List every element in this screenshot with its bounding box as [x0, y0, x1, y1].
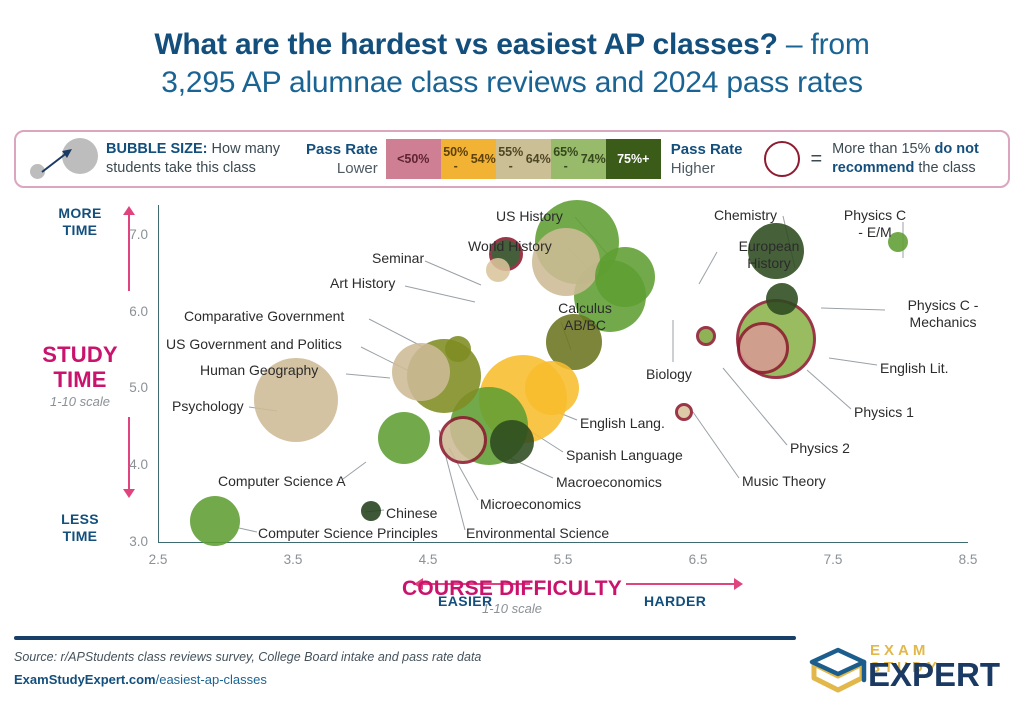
norec-bold-2: recommend [832, 160, 914, 176]
bubble-label-chemistry: Chemistry [714, 207, 777, 224]
norec-prefix: More than 15% [832, 141, 934, 157]
pass-rate-swatches: <50%50% -54%55% -64%65% -74%75%+ [386, 139, 661, 179]
bubble-label-chinese: Chinese [386, 505, 437, 522]
bubble-label-seminar: Seminar [372, 250, 424, 267]
x-tick-6.5: 6.5 [678, 552, 718, 567]
bubble-label-european-history: EuropeanHistory [714, 238, 824, 272]
bubble-label-computer-science-principles: Computer Science Principles [258, 525, 438, 542]
do-not-recommend-ring-icon [764, 141, 800, 177]
equals-sign: = [810, 148, 822, 171]
bubble-label-macroeconomics: Macroeconomics [556, 474, 662, 491]
footer-link[interactable]: ExamStudyExpert.com/easiest-ap-classes [14, 672, 267, 687]
bubble-label-physics-c-e-m: Physics C- E/M [820, 207, 930, 241]
pass-rate-swatch-3: 65% -74% [551, 139, 606, 179]
title-line-1: What are the hardest vs easiest AP class… [40, 26, 984, 64]
bubble-size-legend-text: BUBBLE SIZE: How many students take this… [106, 140, 280, 178]
leader-line [723, 368, 787, 445]
harder-arrow-icon [626, 583, 734, 585]
bubble-label-computer-science-a: Computer Science A [218, 473, 346, 490]
x-axis-caption: EASIER COURSE DIFFICULTY 1-10 scale HARD… [0, 575, 1024, 623]
bubble-chinese[interactable] [361, 501, 381, 521]
bubble-label-human-geography: Human Geography [200, 362, 318, 379]
x-tick-3.5: 3.5 [273, 552, 313, 567]
bubble-label-world-history: World History [468, 238, 552, 255]
title-light: – from [778, 28, 870, 61]
pass-rate-swatch-2: 55% -64% [496, 139, 551, 179]
bubble-label-art-history: Art History [330, 275, 395, 292]
bubble-english-lang[interactable] [525, 361, 579, 415]
pass-rate-swatch-1: 50% -54% [441, 139, 496, 179]
pass-rate-lower-title: Pass Rate [306, 140, 378, 159]
logo: EXAM STUDY EXPERT [808, 640, 1008, 696]
leader-line [239, 528, 257, 532]
bubble-art-history[interactable] [486, 258, 510, 282]
bubble-label-physics-c-mechanics: Physics C -Mechanics [888, 297, 998, 331]
bubble-label-physics-2: Physics 2 [790, 440, 850, 457]
bubble-european-history[interactable] [595, 247, 655, 307]
pass-rate-lower-sub: Lower [306, 159, 378, 178]
leader-line [821, 308, 885, 310]
bubble-size-arrow-icon [28, 136, 100, 182]
footer-source: Source: r/APStudents class reviews surve… [14, 650, 481, 664]
y-axis-down-arrowhead-icon [123, 489, 135, 498]
x-tick-8.5: 8.5 [948, 552, 988, 567]
footer-divider [14, 636, 796, 640]
y-tick-4.0: 4.0 [114, 457, 148, 472]
pass-rate-higher-title: Pass Rate [671, 140, 743, 159]
y-tick-3.0: 3.0 [114, 534, 148, 549]
bubble-physics-1[interactable] [737, 322, 789, 374]
x-tick-5.5: 5.5 [543, 552, 583, 567]
y-tick-7.0: 7.0 [114, 227, 148, 242]
bubble-label-english-lang: English Lang. [580, 415, 665, 432]
bubble-label-comparative-government: Comparative Government [184, 308, 344, 325]
y-tick-5.0: 5.0 [114, 380, 148, 395]
bubble-physics-c-mechanics[interactable] [766, 283, 798, 315]
y-axis-scale: 1-10 scale [42, 394, 118, 409]
pass-rate-lower-legend: Pass Rate Lower [306, 140, 378, 178]
bubble-size-icon [28, 136, 100, 182]
bubble-computer-science-a[interactable] [378, 412, 430, 464]
pass-rate-higher-sub: Higher [671, 159, 743, 178]
bubble-label-physics-1: Physics 1 [854, 404, 914, 421]
title-line-2: 3,295 AP alumnae class reviews and 2024 … [40, 64, 984, 102]
page-title: What are the hardest vs easiest AP class… [0, 0, 1024, 108]
leader-line [807, 370, 851, 409]
leader-line [829, 358, 877, 365]
leader-line [425, 261, 481, 285]
bubble-label-environmental-science: Environmental Science [466, 525, 609, 542]
footer-link-domain: ExamStudyExpert.com [14, 672, 156, 687]
footer-link-path: /easiest-ap-classes [156, 672, 267, 687]
norec-suffix: the class [914, 160, 975, 176]
y-tick-6.0: 6.0 [114, 304, 148, 319]
logo-bottom-text: EXPERT [868, 656, 1000, 694]
bubble-label-spanish-language: Spanish Language [566, 447, 683, 464]
y-axis-up-arrow-icon [128, 213, 130, 291]
do-not-recommend-legend-text: More than 15% do not recommend the class [832, 140, 979, 178]
leader-line [405, 286, 475, 302]
y-axis-title: STUDYTIME [42, 342, 118, 392]
y-axis-down-arrow-icon [128, 417, 130, 493]
y-axis-more-time: MORETIME [58, 205, 101, 239]
y-axis-less-time: LESSTIME [61, 511, 99, 545]
leader-line [346, 374, 390, 378]
bubble-label-us-government-and-politics: US Government and Politics [166, 336, 342, 353]
leader-line [343, 462, 366, 479]
legend-bar: BUBBLE SIZE: How many students take this… [14, 130, 1010, 188]
harder-arrowhead-icon [734, 578, 743, 590]
bubble-label-us-history: US History [496, 208, 563, 225]
title-strong: What are the hardest vs easiest AP class… [154, 28, 777, 61]
pass-rate-higher-legend: Pass Rate Higher [671, 140, 743, 178]
pass-rate-swatch-0: <50% [386, 139, 441, 179]
bubble-macroeconomics[interactable] [490, 420, 534, 464]
bubble-label-music-theory: Music Theory [742, 473, 826, 490]
norec-bold-1: do not [935, 141, 979, 157]
x-tick-4.5: 4.5 [408, 552, 448, 567]
bubble-label-english-lit: English Lit. [880, 360, 948, 377]
bubble-size-text: How many [208, 141, 281, 157]
y-axis-up-arrowhead-icon [123, 206, 135, 215]
pass-rate-swatch-4: 75%+ [606, 139, 661, 179]
x-tick-7.5: 7.5 [813, 552, 853, 567]
bubble-size-text2: students take this class [106, 159, 280, 178]
x-tick-2.5: 2.5 [138, 552, 178, 567]
x-axis-harder-label: HARDER [644, 593, 706, 609]
leader-line [693, 412, 739, 478]
bubble-label-microeconomics: Microeconomics [480, 496, 581, 513]
bubble-microeconomics[interactable] [439, 416, 487, 464]
bubble-comparative-government[interactable] [445, 336, 471, 362]
graduation-cap-icon [808, 644, 868, 694]
bubble-label-calculus-ab-bc: CalculusAB/BC [530, 300, 640, 334]
bubble-computer-science-principles[interactable] [190, 496, 240, 546]
bubble-label-biology: Biology [646, 366, 692, 383]
bubble-size-label: BUBBLE SIZE: [106, 141, 208, 157]
bubble-label-psychology: Psychology [172, 398, 244, 415]
